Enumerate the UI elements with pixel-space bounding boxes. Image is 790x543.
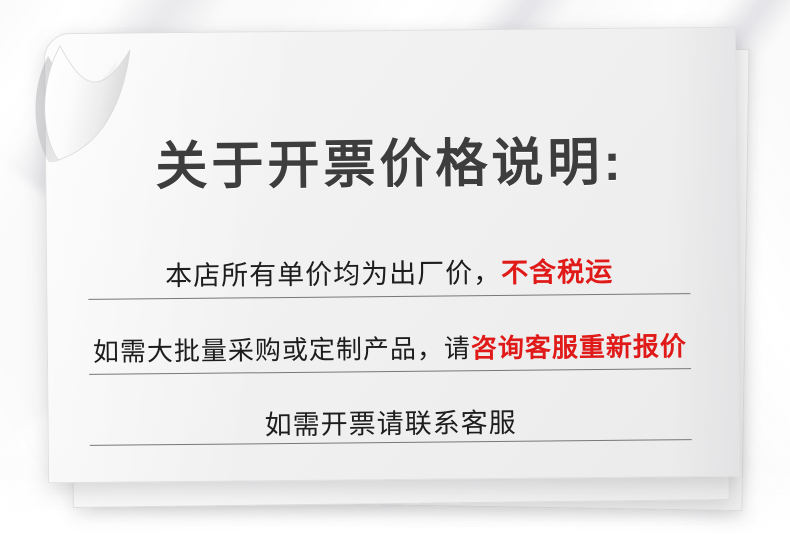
divider-1 bbox=[88, 293, 690, 300]
notice-card-content: 关于开票价格说明: 本店所有单价均为出厂价，不含税运 如需大批量采购或定制产品，… bbox=[44, 27, 738, 482]
notice-line-3: 如需开票请联系客服 bbox=[89, 399, 691, 444]
notice-line-1-normal: 本店所有单价均为出厂价， bbox=[165, 258, 501, 291]
notice-line-2: 如需大批量采购或定制产品，请咨询客服重新报价 bbox=[89, 326, 691, 369]
divider-2 bbox=[89, 368, 691, 375]
page-title: 关于开票价格说明: bbox=[45, 119, 736, 201]
notice-line-3-normal: 如需开票请联系客服 bbox=[264, 408, 516, 440]
notice-line-2-normal: 如需大批量采购或定制产品，请 bbox=[93, 333, 471, 367]
notice-line-2-highlight: 咨询客服重新报价 bbox=[471, 331, 687, 363]
notice-line-1-highlight: 不含税运 bbox=[501, 257, 613, 288]
notice-line-1: 本店所有单价均为出厂价，不含税运 bbox=[88, 249, 690, 294]
